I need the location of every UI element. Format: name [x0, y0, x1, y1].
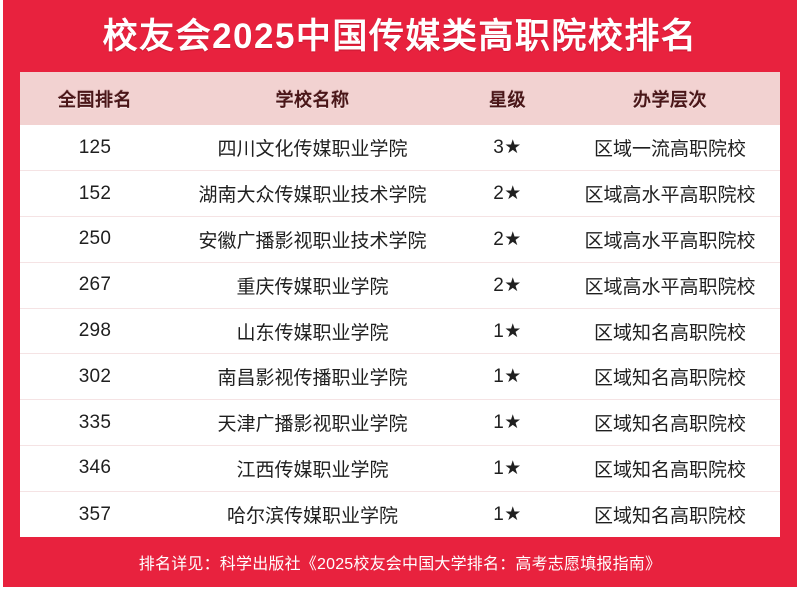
- table-row: 357 哈尔滨传媒职业学院 1★ 区域知名高职院校: [20, 491, 780, 537]
- red-frame: 校友会2025中国传媒类高职院校排名 全国排名 学校名称 星级 办学层次: [3, 0, 797, 587]
- table-header: 全国排名 学校名称 星级 办学层次: [20, 72, 780, 125]
- cell-rank: 250: [20, 217, 170, 263]
- column-header-school: 学校名称: [170, 72, 455, 125]
- cell-level: 区域高水平高职院校: [560, 262, 780, 308]
- cell-star: 2★: [455, 262, 560, 308]
- cell-level: 区域高水平高职院校: [560, 171, 780, 217]
- cell-rank: 302: [20, 354, 170, 400]
- table-row: 298 山东传媒职业学院 1★ 区域知名高职院校: [20, 308, 780, 354]
- cell-star: 1★: [455, 446, 560, 492]
- cell-star: 1★: [455, 491, 560, 537]
- cell-school: 江西传媒职业学院: [170, 446, 455, 492]
- cell-level: 区域知名高职院校: [560, 354, 780, 400]
- cell-school: 哈尔滨传媒职业学院: [170, 491, 455, 537]
- ranking-table-card: 全国排名 学校名称 星级 办学层次 125 四川文化传媒职业学院 3★ 区域一流…: [20, 72, 780, 537]
- cell-school: 山东传媒职业学院: [170, 308, 455, 354]
- cell-rank: 335: [20, 400, 170, 446]
- cell-level: 区域知名高职院校: [560, 491, 780, 537]
- cell-rank: 298: [20, 308, 170, 354]
- cell-level: 区域知名高职院校: [560, 400, 780, 446]
- cell-school: 天津广播影视职业学院: [170, 400, 455, 446]
- title-band: 校友会2025中国传媒类高职院校排名: [3, 0, 797, 72]
- cell-level: 区域高水平高职院校: [560, 217, 780, 263]
- table-row: 125 四川文化传媒职业学院 3★ 区域一流高职院校: [20, 125, 780, 171]
- table-row: 302 南昌影视传播职业学院 1★ 区域知名高职院校: [20, 354, 780, 400]
- cell-school: 四川文化传媒职业学院: [170, 125, 455, 171]
- cell-school: 南昌影视传播职业学院: [170, 354, 455, 400]
- cell-star: 1★: [455, 400, 560, 446]
- table-row: 152 湖南大众传媒职业技术学院 2★ 区域高水平高职院校: [20, 171, 780, 217]
- table-row: 346 江西传媒职业学院 1★ 区域知名高职院校: [20, 446, 780, 492]
- cell-star: 1★: [455, 308, 560, 354]
- cell-school: 重庆传媒职业学院: [170, 262, 455, 308]
- table-header-row: 全国排名 学校名称 星级 办学层次: [20, 72, 780, 125]
- cell-star: 2★: [455, 217, 560, 263]
- table-body: 125 四川文化传媒职业学院 3★ 区域一流高职院校 152 湖南大众传媒职业技…: [20, 125, 780, 537]
- cell-rank: 152: [20, 171, 170, 217]
- table-row: 335 天津广播影视职业学院 1★ 区域知名高职院校: [20, 400, 780, 446]
- column-header-star: 星级: [455, 72, 560, 125]
- cell-star: 2★: [455, 171, 560, 217]
- cell-level: 区域知名高职院校: [560, 446, 780, 492]
- footer-note: 排名详见：科学出版社《2025校友会中国大学排名：高考志愿填报指南》: [3, 550, 797, 574]
- cell-rank: 125: [20, 125, 170, 171]
- column-header-rank: 全国排名: [20, 72, 170, 125]
- cell-rank: 346: [20, 446, 170, 492]
- table-row: 267 重庆传媒职业学院 2★ 区域高水平高职院校: [20, 262, 780, 308]
- ranking-table: 全国排名 学校名称 星级 办学层次 125 四川文化传媒职业学院 3★ 区域一流…: [20, 72, 780, 537]
- cell-rank: 267: [20, 262, 170, 308]
- cell-school: 湖南大众传媒职业技术学院: [170, 171, 455, 217]
- ranking-poster: 校友会2025中国传媒类高职院校排名 全国排名 学校名称 星级 办学层次: [0, 0, 800, 590]
- table-row: 250 安徽广播影视职业技术学院 2★ 区域高水平高职院校: [20, 217, 780, 263]
- column-header-level: 办学层次: [560, 72, 780, 125]
- page-title: 校友会2025中国传媒类高职院校排名: [103, 19, 698, 54]
- cell-level: 区域知名高职院校: [560, 308, 780, 354]
- cell-school: 安徽广播影视职业技术学院: [170, 217, 455, 263]
- cell-rank: 357: [20, 491, 170, 537]
- cell-star: 1★: [455, 354, 560, 400]
- cell-level: 区域一流高职院校: [560, 125, 780, 171]
- cell-star: 3★: [455, 125, 560, 171]
